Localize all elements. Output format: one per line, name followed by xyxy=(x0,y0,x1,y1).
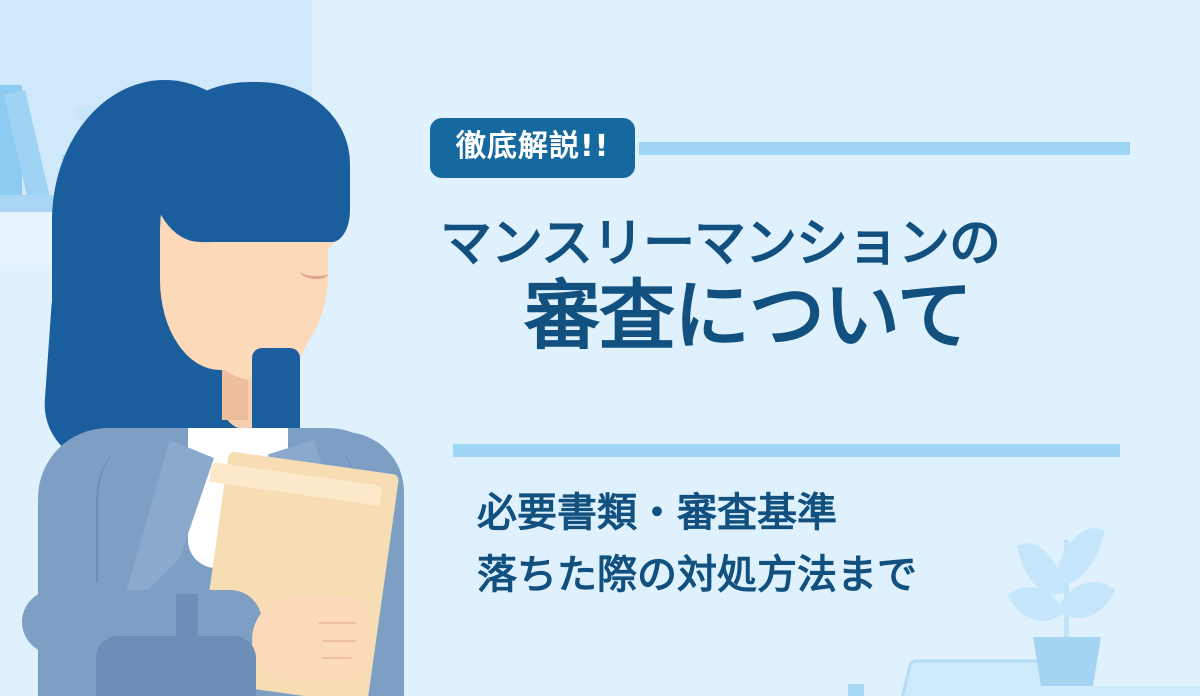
page-subtitle-line2: 落ちた際の対処方法まで xyxy=(477,544,917,606)
blog-header-banner: 徹底解説!! マンスリーマンションの 審査について 必要書類・審査基準 落ちた際… xyxy=(0,0,1200,696)
lapel-seam-left xyxy=(96,452,156,582)
hand xyxy=(252,596,370,680)
finger-line xyxy=(318,622,356,624)
badge-row: 徹底解説!! xyxy=(430,118,1130,178)
banner-text-content: 徹底解説!! マンスリーマンションの 審査について 必要書類・審査基準 落ちた際… xyxy=(430,0,1200,696)
eyecatch-badge: 徹底解説!! xyxy=(430,118,635,178)
page-title: マンスリーマンションの 審査について xyxy=(440,218,1160,355)
page-title-line1: マンスリーマンションの xyxy=(440,218,1160,271)
page-subtitle: 必要書類・審査基準 落ちた際の対処方法まで xyxy=(477,482,917,606)
sleeve-lower xyxy=(96,636,256,696)
title-divider-rule xyxy=(453,444,1120,457)
woman-illustration xyxy=(0,0,440,696)
finger-line xyxy=(322,640,356,642)
finger-line xyxy=(322,657,352,659)
page-title-line2: 審査について xyxy=(524,277,1160,355)
page-subtitle-line1: 必要書類・審査基準 xyxy=(477,482,917,544)
badge-trailing-rule xyxy=(639,142,1130,155)
